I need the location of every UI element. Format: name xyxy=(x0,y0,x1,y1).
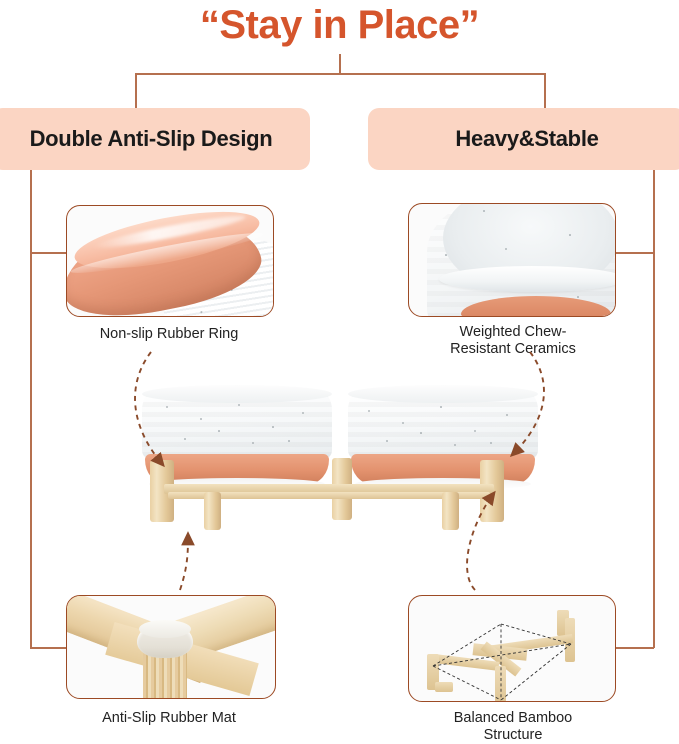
rubber-foot-top-face xyxy=(139,620,191,638)
category-label-left: Double Anti-Slip Design xyxy=(30,126,273,152)
balance-guide-lines xyxy=(409,596,616,701)
ceramic-bowl-rim xyxy=(439,266,616,292)
connector-left-spine xyxy=(30,170,32,648)
connector-left-to-bottom-frame xyxy=(30,647,68,649)
category-box-heavy-stable[interactable]: Heavy&Stable xyxy=(368,108,679,170)
category-label-right: Heavy&Stable xyxy=(455,126,598,152)
connector-right-to-top-frame xyxy=(612,252,654,254)
stand-leg-back-right xyxy=(442,492,459,530)
infographic-canvas: “Stay in Place” Double Anti-Slip Design … xyxy=(0,0,679,743)
caption-line-2: Structure xyxy=(400,727,626,744)
caption-line-1: Balanced Bamboo xyxy=(400,710,626,727)
callout-caption-balanced-bamboo-structure: Balanced Bamboo Structure xyxy=(400,710,626,744)
connector-left-to-top-frame xyxy=(30,252,68,254)
callout-photo-non-slip-rubber-ring[interactable] xyxy=(66,205,274,317)
stand-leg-back-left xyxy=(204,492,221,530)
photo-rubber-ring-scene xyxy=(67,206,273,316)
callout-caption-anti-slip-rubber-mat: Anti-Slip Rubber Mat xyxy=(56,710,282,727)
page-title: “Stay in Place” xyxy=(0,0,679,50)
connector-title-stem xyxy=(339,54,341,74)
caption-line-2: Resistant Ceramics xyxy=(400,341,626,358)
callout-caption-weighted-chew-resistant-ceramics: Weighted Chew- Resistant Ceramics xyxy=(400,324,626,358)
connector-title-crossbar xyxy=(135,73,545,75)
callout-caption-non-slip-rubber-ring: Non-slip Rubber Ring xyxy=(56,326,282,343)
caption-line-1: Weighted Chew- xyxy=(400,324,626,341)
connector-right-to-bottom-frame xyxy=(612,647,654,649)
callout-photo-anti-slip-rubber-mat[interactable] xyxy=(66,595,276,699)
connector-title-to-right-pill xyxy=(544,73,546,109)
category-box-double-anti-slip-design[interactable]: Double Anti-Slip Design xyxy=(0,108,310,170)
caption-line-1: Anti-Slip Rubber Mat xyxy=(56,710,282,727)
connector-right-spine xyxy=(653,170,655,648)
photo-bamboo-structure-scene xyxy=(409,596,615,701)
connector-title-to-left-pill xyxy=(135,73,137,109)
caption-line-1: Non-slip Rubber Ring xyxy=(56,326,282,343)
product-photo-double-bowl-stand[interactable] xyxy=(142,392,542,540)
bowl-left-rim xyxy=(142,385,332,403)
callout-photo-weighted-chew-resistant-ceramics[interactable] xyxy=(408,203,616,317)
arrow-to-rubber-mat xyxy=(180,534,188,590)
bowl-right-rim xyxy=(348,385,538,403)
photo-ceramic-bowl-scene xyxy=(409,204,615,316)
callout-photo-balanced-bamboo-structure[interactable] xyxy=(408,595,616,702)
photo-bamboo-foot-scene xyxy=(67,596,275,698)
